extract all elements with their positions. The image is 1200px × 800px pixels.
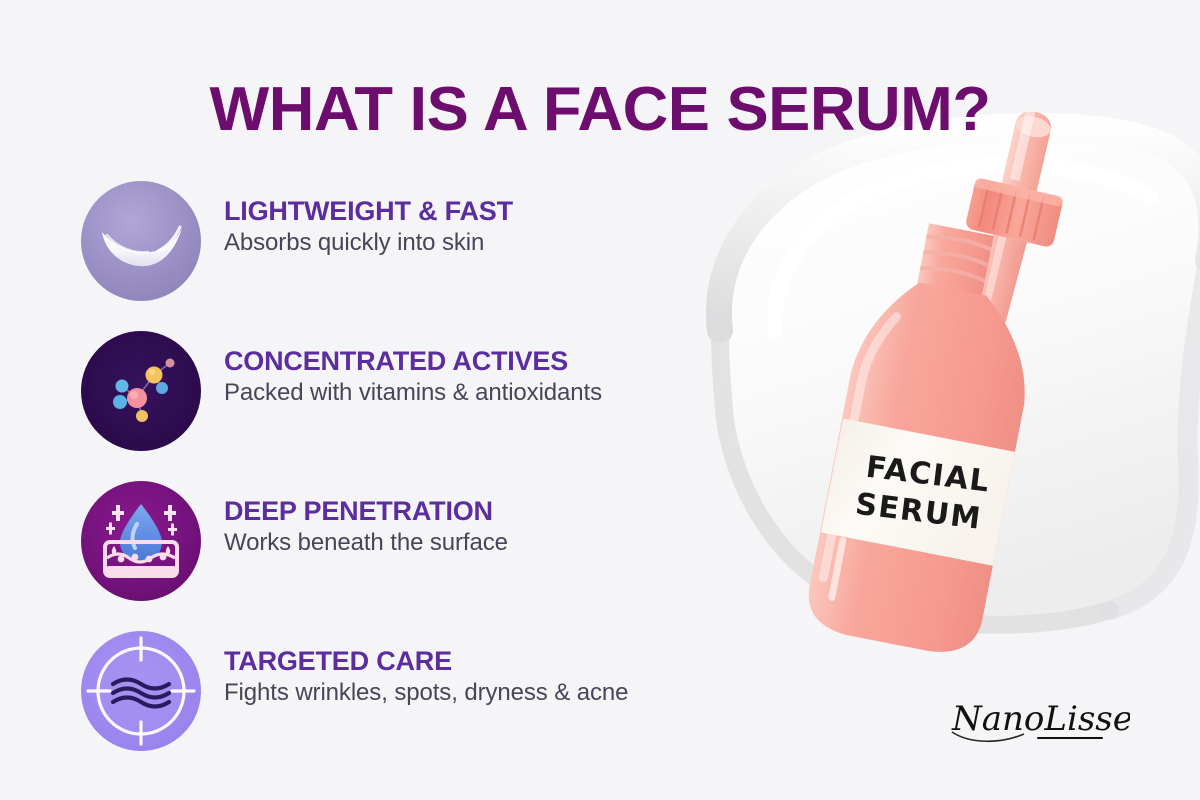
cream-swipe-icon xyxy=(80,180,202,302)
feature-text: CONCENTRATED ACTIVES Packed with vitamin… xyxy=(224,346,734,408)
feature-subtext: Works beneath the surface xyxy=(224,529,734,558)
cream-smear-shape xyxy=(719,126,1200,625)
label-line-1: FACIAL xyxy=(864,450,992,500)
feature-heading: DEEP PENETRATION xyxy=(224,496,734,526)
feature-item[interactable]: CONCENTRATED ACTIVES Packed with vitamin… xyxy=(72,322,732,472)
feature-subtext: Packed with vitamins & antioxidants xyxy=(224,379,734,408)
feature-text: LIGHTWEIGHT & FAST Absorbs quickly into … xyxy=(224,196,734,258)
feature-subtext: Fights wrinkles, spots, dryness & acne xyxy=(224,679,734,708)
feature-text: DEEP PENETRATION Works beneath the surfa… xyxy=(224,496,734,558)
dropper-pipette xyxy=(911,101,1081,478)
page-title: WHAT IS A FACE SERUM? xyxy=(0,74,1200,145)
feature-item[interactable]: TARGETED CARE Fights wrinkles, spots, dr… xyxy=(72,622,732,772)
bottle-label-text: FACIAL SERUM xyxy=(853,449,992,537)
feature-heading: LIGHTWEIGHT & FAST xyxy=(224,196,734,226)
feature-heading: CONCENTRATED ACTIVES xyxy=(224,346,734,376)
feature-list: LIGHTWEIGHT & FAST Absorbs quickly into … xyxy=(72,172,732,772)
feature-subtext: Absorbs quickly into skin xyxy=(224,229,734,258)
droplet-skin-layers-icon xyxy=(80,480,202,602)
target-wrinkles-icon xyxy=(80,630,202,752)
feature-text: TARGETED CARE Fights wrinkles, spots, dr… xyxy=(224,646,734,708)
serum-bottle: FACIAL SERUM xyxy=(802,214,1055,660)
infographic-poster: FACIAL SERUM WHAT IS A FACE SERUM? xyxy=(0,0,1200,800)
feature-item[interactable]: LIGHTWEIGHT & FAST Absorbs quickly into … xyxy=(72,172,732,322)
brand-logo: NanoLisse xyxy=(950,686,1130,752)
feature-heading: TARGETED CARE xyxy=(224,646,734,676)
brand-name: NanoLisse xyxy=(951,699,1130,739)
label-line-2: SERUM xyxy=(853,487,983,537)
molecule-actives-icon xyxy=(80,330,202,452)
feature-item[interactable]: DEEP PENETRATION Works beneath the surfa… xyxy=(72,472,732,622)
